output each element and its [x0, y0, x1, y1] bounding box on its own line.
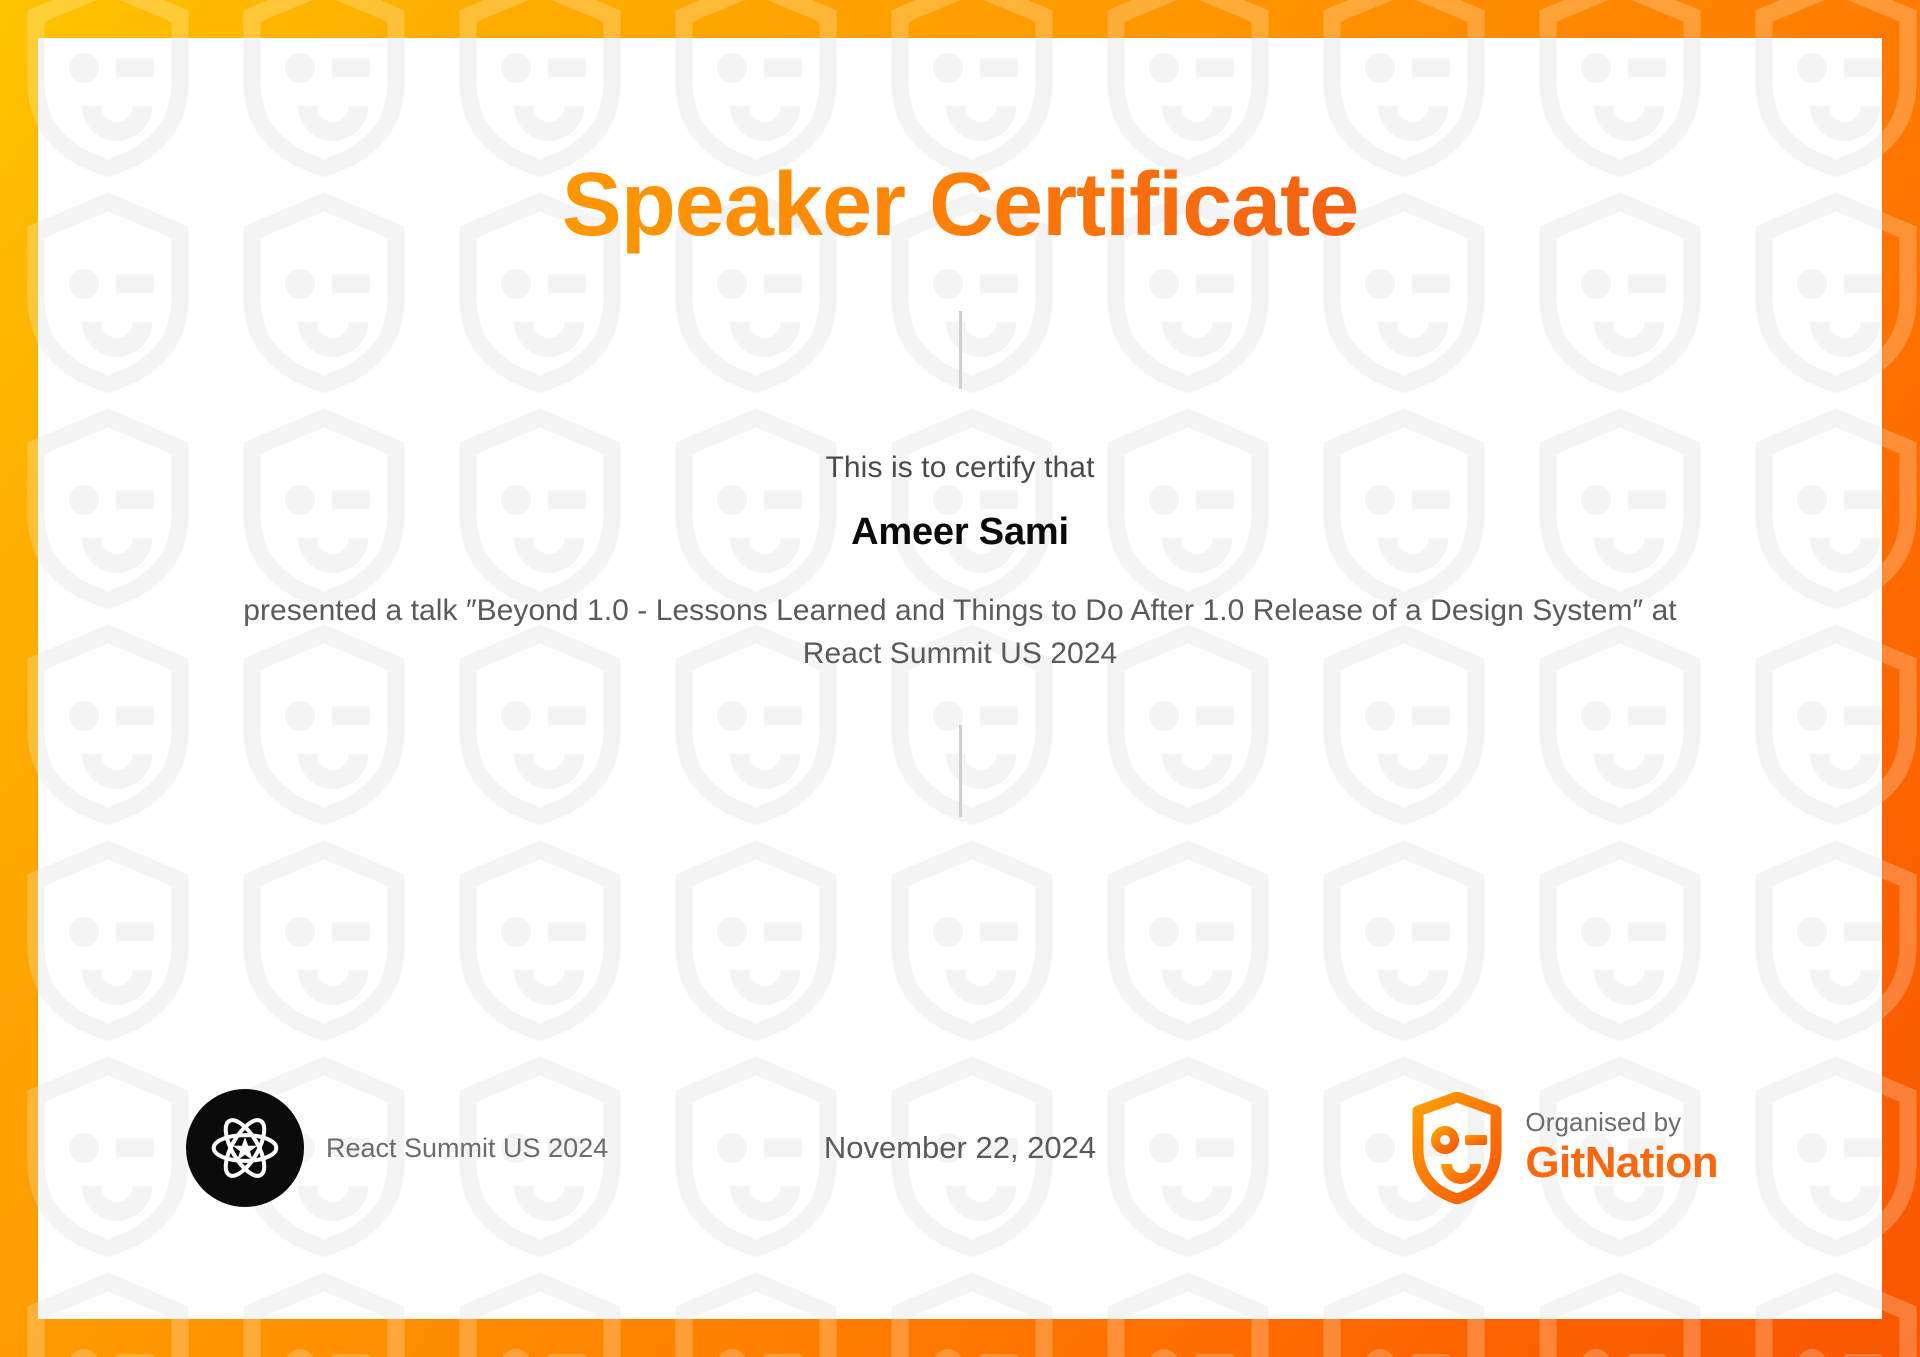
page-title: Speaker Certificate: [562, 156, 1358, 255]
certify-line: This is to certify that: [825, 451, 1094, 485]
organiser-text-block: Organised by GitNation: [1525, 1109, 1718, 1187]
organiser-block: Organised by GitNation: [1411, 1092, 1718, 1204]
speaker-certificate: Speaker Certificate This is to certify t…: [0, 0, 1920, 1357]
certificate-card: Speaker Certificate This is to certify t…: [38, 38, 1882, 1319]
certificate-footer: React Summit US 2024 November 22, 2024: [38, 1083, 1882, 1213]
recipient-name: Ameer Sami: [851, 511, 1069, 554]
organised-by-label: Organised by: [1525, 1109, 1718, 1137]
divider-bottom: [959, 725, 962, 817]
gitnation-shield-mask-icon: [1411, 1092, 1503, 1204]
organiser-name: GitNation: [1525, 1140, 1718, 1187]
talk-description: presented a talk ″Beyond 1.0 - Lessons L…: [210, 590, 1710, 675]
divider-top: [959, 311, 962, 389]
